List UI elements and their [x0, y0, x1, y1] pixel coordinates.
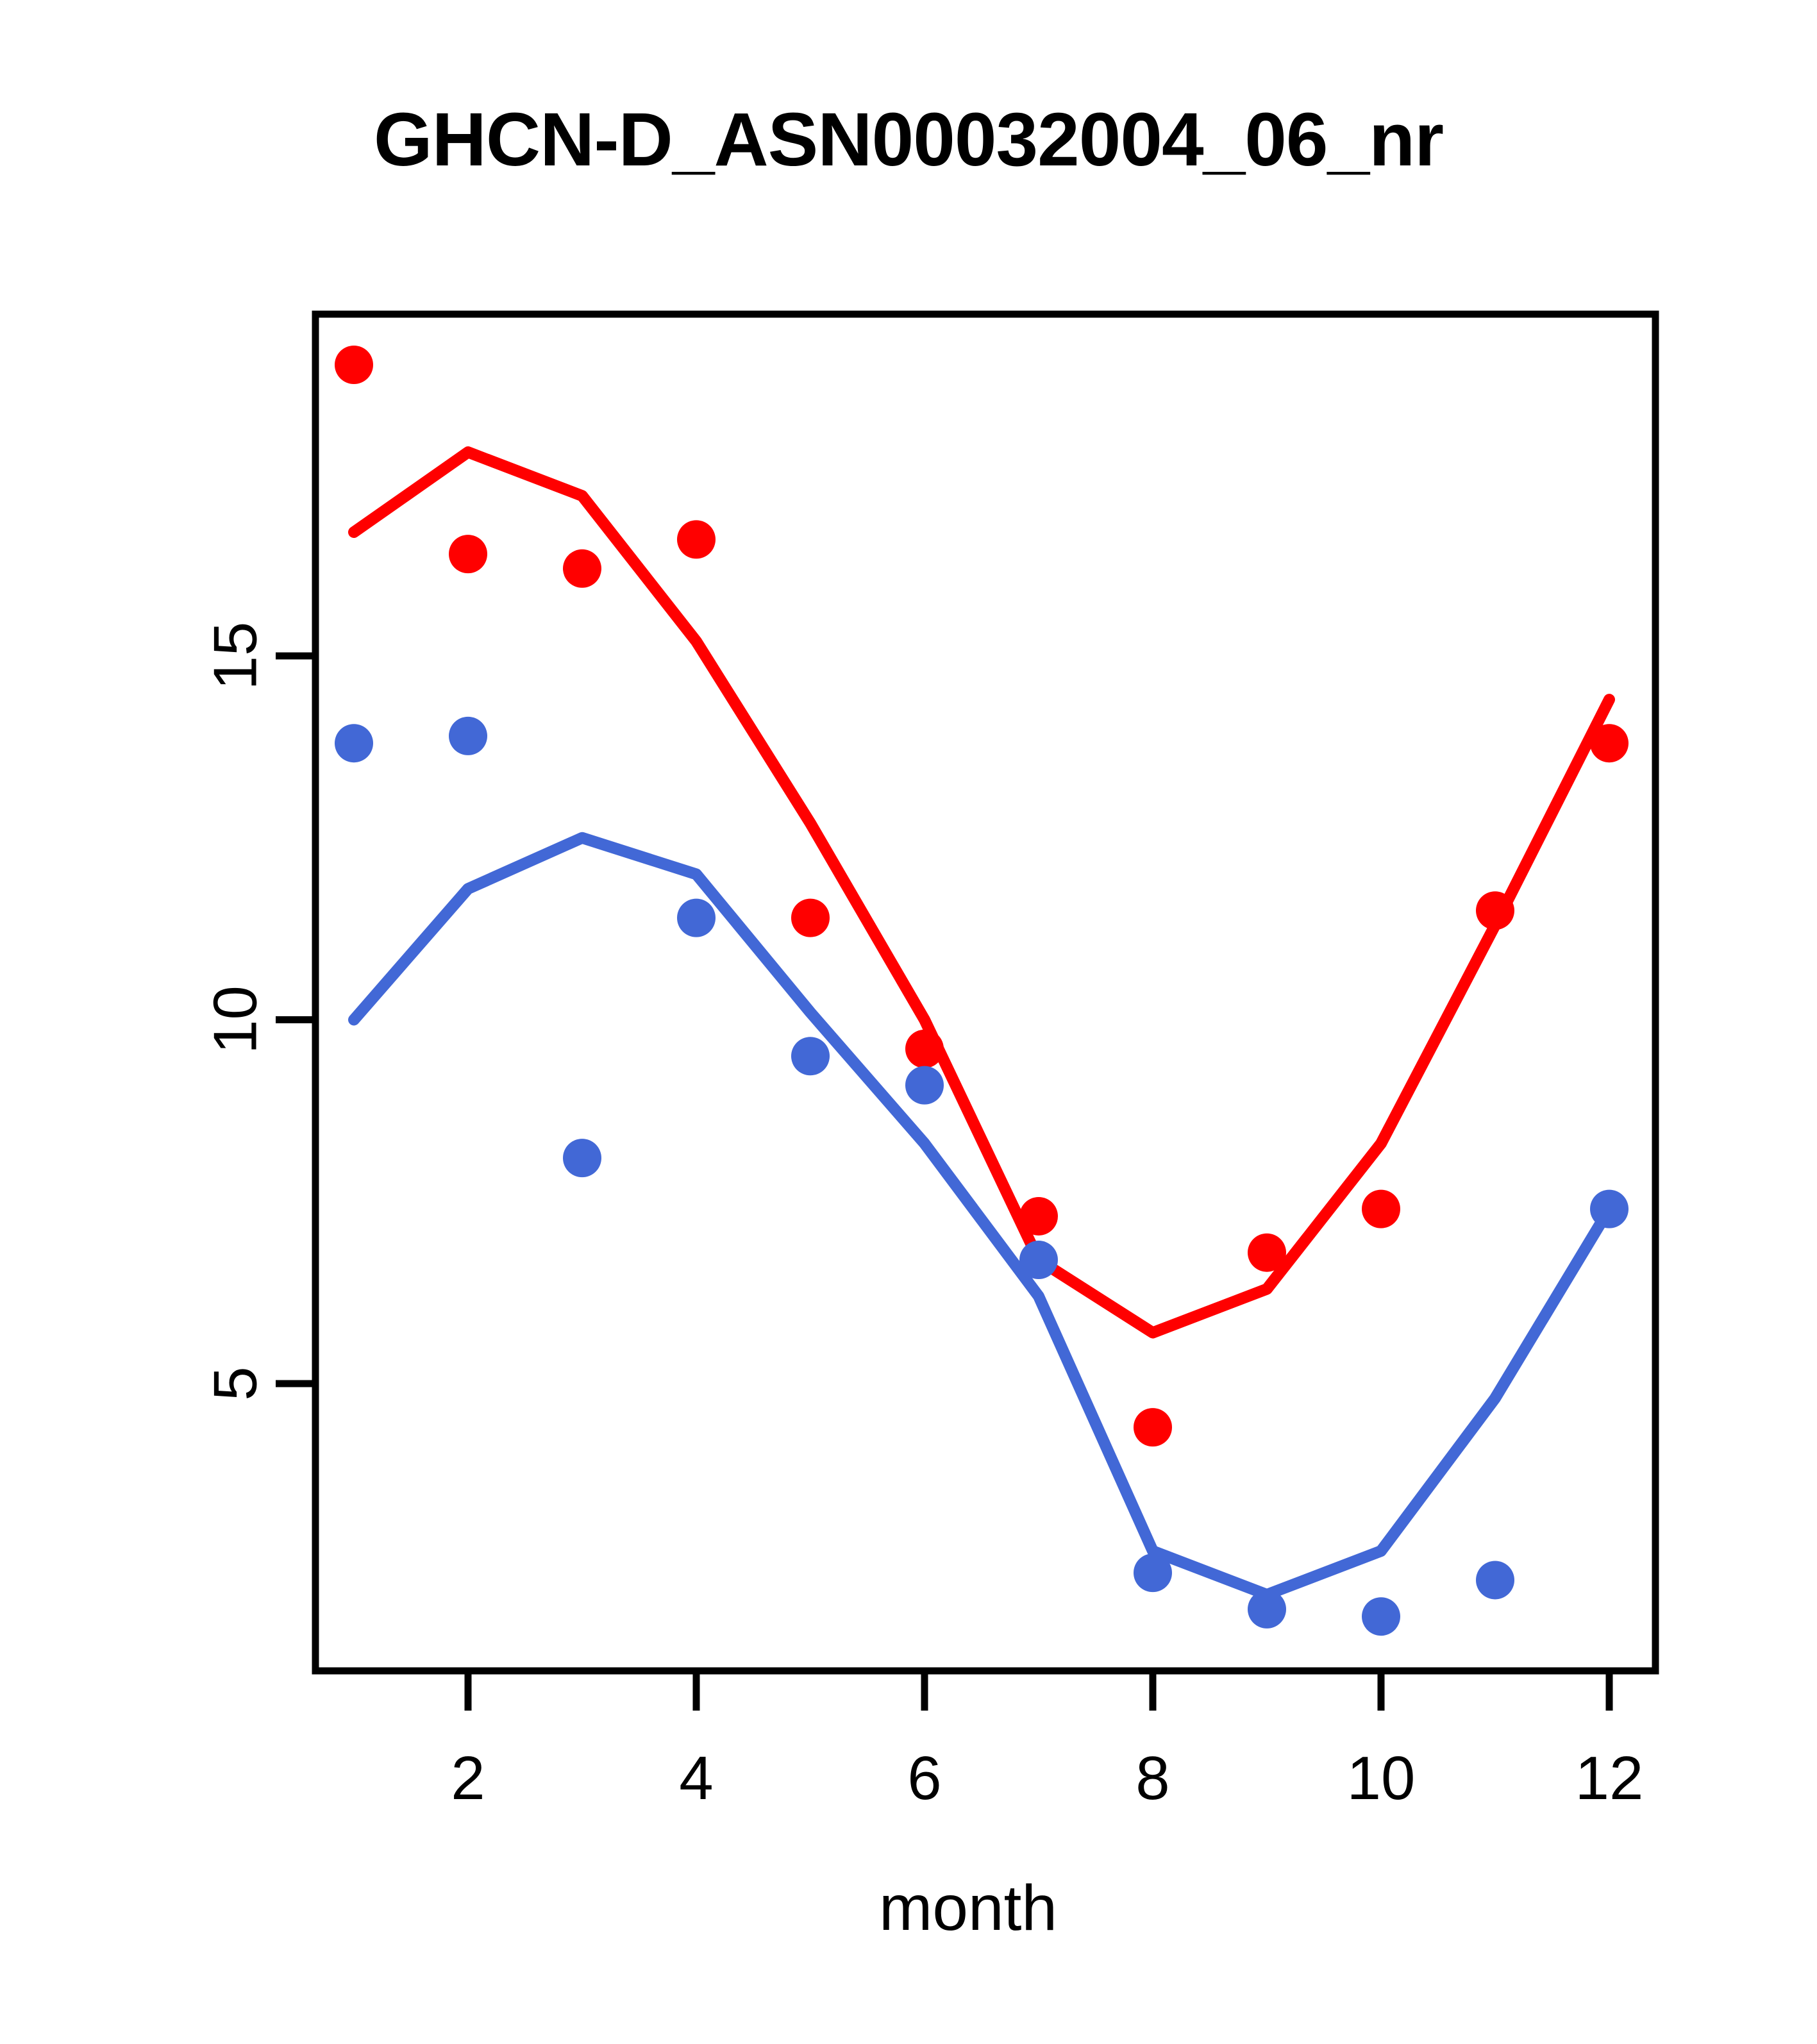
x-axis-ticks: [468, 1671, 1609, 1711]
y-tick-label-15: 15: [201, 622, 270, 691]
x-tick-labels: 24681012: [451, 1744, 1643, 1813]
data-series-group: [335, 346, 1629, 1636]
red-points-marker: [1476, 891, 1514, 930]
blue-points-marker: [1248, 1590, 1286, 1629]
blue-line: [354, 838, 1609, 1595]
blue-points-marker: [1134, 1554, 1172, 1592]
x-tick-label-4: 4: [679, 1744, 713, 1813]
x-tick-label-10: 10: [1347, 1744, 1416, 1813]
plot-area: 24681012 51015: [0, 0, 1817, 2044]
blue-points-marker: [335, 724, 373, 762]
x-tick-label-6: 6: [907, 1744, 941, 1813]
blue-points-marker: [677, 899, 716, 937]
red-points-marker: [905, 1030, 944, 1068]
y-tick-label-10: 10: [201, 985, 270, 1054]
blue-points-marker: [449, 717, 487, 755]
blue-points-marker: [1476, 1561, 1514, 1599]
y-tick-label-5: 5: [201, 1366, 270, 1400]
x-tick-label-2: 2: [451, 1744, 485, 1813]
red-points-marker: [1134, 1408, 1172, 1446]
blue-points-marker: [1019, 1241, 1058, 1279]
red-points-marker: [677, 520, 716, 558]
blue-points-marker: [1590, 1190, 1629, 1228]
red-points-marker: [791, 899, 830, 937]
red-points-marker: [335, 346, 373, 384]
red-points-marker: [1019, 1197, 1058, 1236]
red-points-marker: [1590, 724, 1629, 762]
blue-points-marker: [1362, 1597, 1400, 1636]
y-tick-labels: 51015: [201, 622, 270, 1401]
blue-points-marker: [791, 1037, 830, 1075]
red-points-marker: [449, 535, 487, 573]
blue-points-marker: [905, 1066, 944, 1105]
red-line: [354, 452, 1609, 1332]
red-points-marker: [563, 549, 601, 588]
blue-points-marker: [563, 1139, 601, 1177]
y-axis-ticks: [276, 656, 315, 1384]
chart-canvas: GHCN-D_ASN00032004_06_nr 24681012 51015 …: [0, 0, 1817, 2044]
red-points-marker: [1248, 1234, 1286, 1272]
x-tick-label-12: 12: [1575, 1744, 1644, 1813]
red-points-marker: [1362, 1190, 1400, 1228]
x-tick-label-8: 8: [1135, 1744, 1169, 1813]
